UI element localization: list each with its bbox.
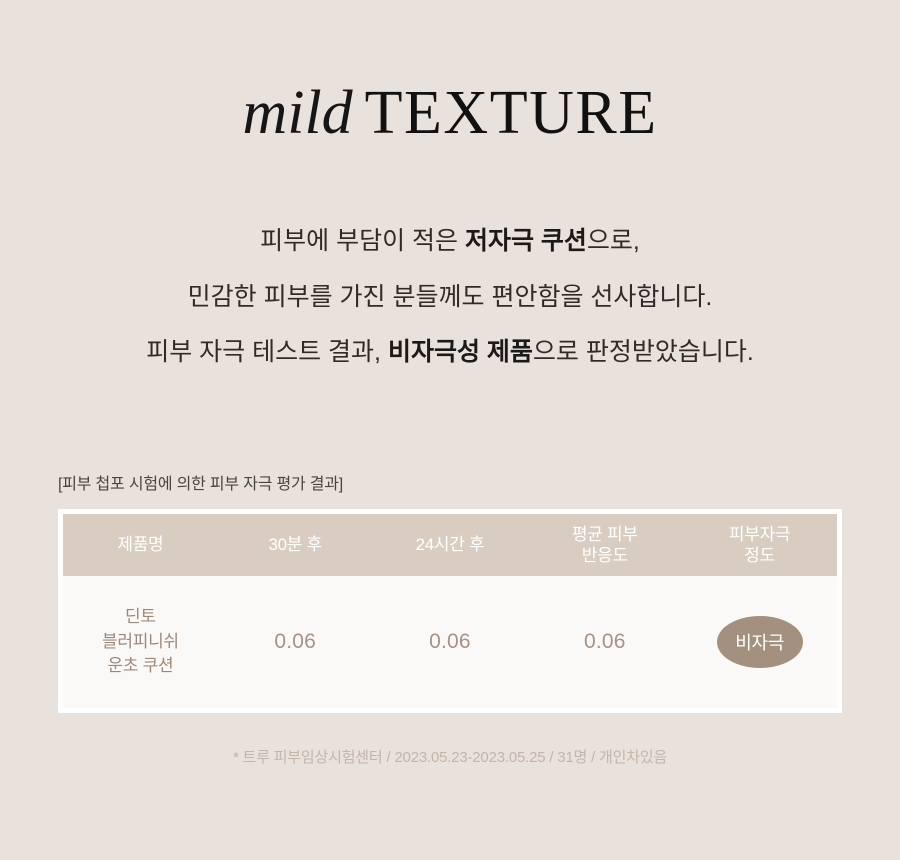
- body-copy-line-1-pre: 피부에 부담이 적은: [260, 227, 465, 255]
- body-copy-line-1-post: 으로,: [587, 227, 640, 255]
- column-header-after-24h: 24시간 후: [373, 514, 528, 576]
- table-row: 딘토 블러피니쉬 운초 쿠션 0.06 0.06 0.06 비자극: [63, 576, 837, 708]
- product-name-line-1: 딘토: [63, 605, 218, 630]
- status-badge: 비자극: [717, 616, 803, 668]
- table-caption: [피부 첩포 시험에 의한 피부 자극 평가 결과]: [58, 470, 343, 494]
- column-header-avg-skin-reaction: 평균 피부 반응도: [527, 514, 682, 576]
- cell-after-30min: 0.06: [218, 576, 373, 708]
- title-italic-word: mild: [242, 79, 352, 147]
- column-header-product-name-line-1: 제품명: [117, 535, 163, 554]
- table-body: 딘토 블러피니쉬 운초 쿠션 0.06 0.06 0.06 비자극: [63, 576, 837, 708]
- product-name-line-2: 블러피니쉬: [63, 630, 218, 655]
- cell-avg-skin-reaction: 0.06: [527, 576, 682, 708]
- column-header-after-24h-line-1: 24시간 후: [416, 535, 485, 554]
- column-header-product-name: 제품명: [63, 514, 218, 576]
- column-header-avg-skin-reaction-line-2: 반응도: [527, 545, 682, 566]
- column-header-irritation-level-line-2: 정도: [682, 545, 837, 566]
- body-copy-line-3-pre: 피부 자극 테스트 결과,: [146, 338, 388, 366]
- cell-after-24h: 0.06: [373, 576, 528, 708]
- page-root: mildTEXTURE 피부에 부담이 적은 저자극 쿠션으로, 민감한 피부를…: [0, 0, 900, 860]
- body-copy-line-1-emphasis: 저자극 쿠션: [465, 227, 587, 255]
- cell-irritation-level: 비자극: [682, 576, 837, 708]
- product-name-line-3: 운초 쿠션: [63, 654, 218, 679]
- body-copy-line-3-post: 으로 판정받았습니다.: [533, 338, 754, 366]
- body-copy-line-2: 민감한 피부를 가진 분들께도 편안함을 선사합니다.: [0, 284, 900, 312]
- product-name: 딘토 블러피니쉬 운초 쿠션: [63, 605, 218, 679]
- page-title: mildTEXTURE: [0, 82, 900, 144]
- body-copy-line-1: 피부에 부담이 적은 저자극 쿠션으로,: [0, 228, 900, 256]
- title-caps-word: TEXTURE: [365, 79, 658, 147]
- column-header-irritation-level-line-1: 피부자극: [682, 524, 837, 545]
- body-copy-line-3-emphasis: 비자극성 제품: [388, 338, 533, 366]
- skin-irritation-results-table: 제품명 30분 후 24시간 후 평균 피부 반응도 피부자극 정도: [63, 514, 837, 708]
- cell-product-name: 딘토 블러피니쉬 운초 쿠션: [63, 576, 218, 708]
- table-header: 제품명 30분 후 24시간 후 평균 피부 반응도 피부자극 정도: [63, 514, 837, 576]
- body-copy-line-3: 피부 자극 테스트 결과, 비자극성 제품으로 판정받았습니다.: [0, 339, 900, 367]
- results-table-container: 제품명 30분 후 24시간 후 평균 피부 반응도 피부자극 정도: [58, 509, 842, 713]
- table-header-row: 제품명 30분 후 24시간 후 평균 피부 반응도 피부자극 정도: [63, 514, 837, 576]
- footnote: * 트루 피부임상시험센터 / 2023.05.23-2023.05.25 / …: [0, 746, 900, 767]
- body-copy: 피부에 부담이 적은 저자극 쿠션으로, 민감한 피부를 가진 분들께도 편안함…: [0, 228, 900, 367]
- column-header-after-30min-line-1: 30분 후: [268, 535, 321, 554]
- column-header-avg-skin-reaction-line-1: 평균 피부: [527, 524, 682, 545]
- column-header-irritation-level: 피부자극 정도: [682, 514, 837, 576]
- column-header-after-30min: 30분 후: [218, 514, 373, 576]
